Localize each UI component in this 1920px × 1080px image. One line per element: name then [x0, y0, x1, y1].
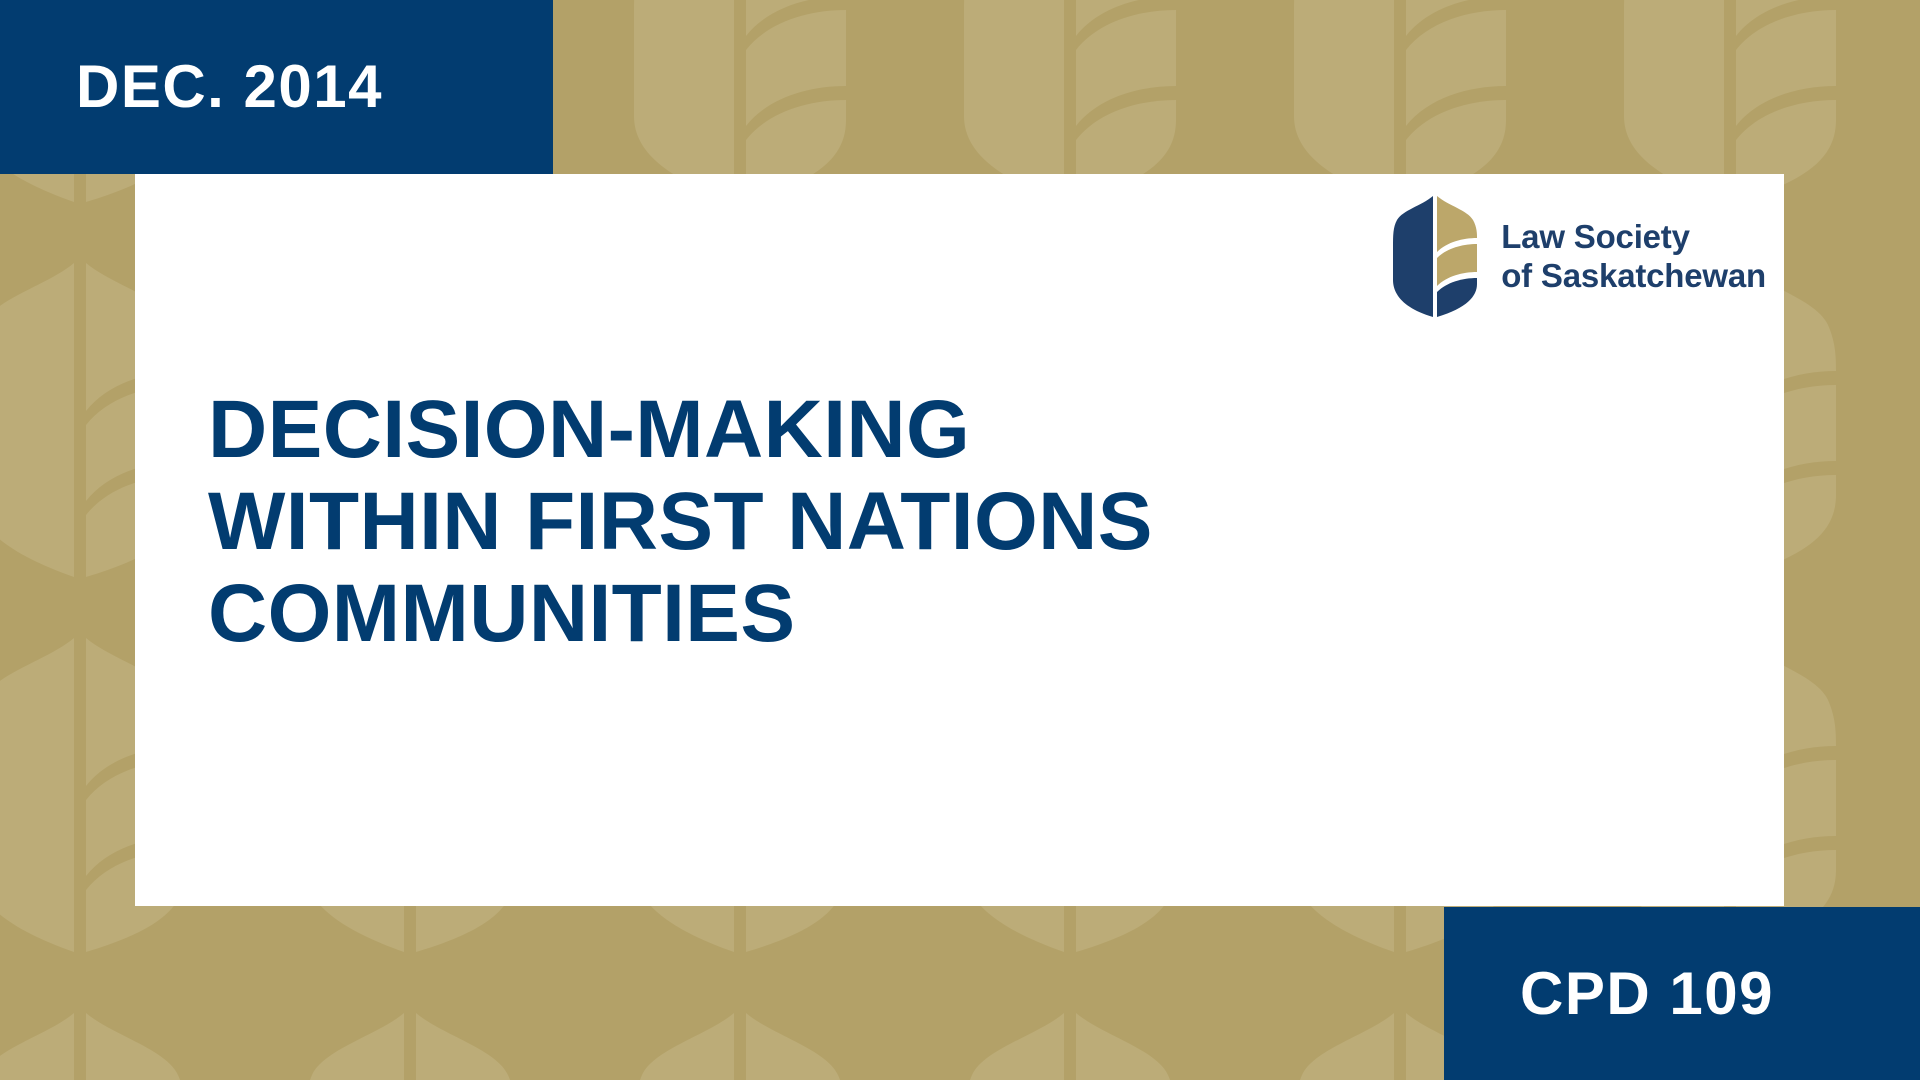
cpd-badge: CPD 109: [1444, 907, 1920, 1080]
page-title-line-2: WITHIN FIRST NATIONS: [208, 476, 1153, 568]
date-badge-label: DEC. 2014: [76, 57, 383, 117]
law-society-logo-wordmark: Law Society of Saskatchewan: [1501, 218, 1766, 296]
page-title-line-3: COMMUNITIES: [208, 568, 1153, 660]
cpd-badge-label: CPD 109: [1520, 964, 1774, 1024]
date-badge: DEC. 2014: [0, 0, 553, 174]
logo-line-1: Law Society: [1501, 218, 1690, 255]
title-slide: DEC. 2014 Law Society of Saskatchewa: [0, 0, 1920, 1080]
law-society-shield-wheat-mark-icon: [1391, 194, 1479, 319]
page-title: DECISION-MAKING WITHIN FIRST NATIONS COM…: [208, 384, 1153, 659]
page-title-line-1: DECISION-MAKING: [208, 384, 1153, 476]
logo-line-2: of Saskatchewan: [1501, 257, 1766, 294]
content-card: Law Society of Saskatchewan DECISION-MAK…: [135, 174, 1784, 906]
law-society-logo: Law Society of Saskatchewan: [1391, 194, 1766, 319]
